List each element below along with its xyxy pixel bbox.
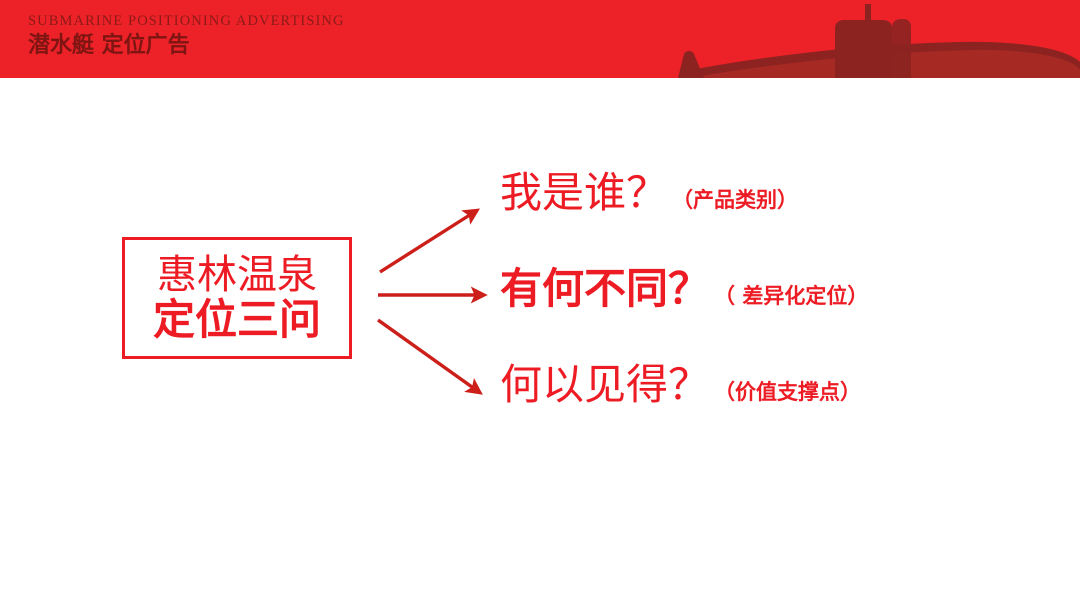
header-title-group: SUBMARINE POSITIONING ADVERTISING 潜水艇 定位… xyxy=(28,13,345,59)
question-item-3: 何以见得？ （价值支撑点） xyxy=(500,362,861,408)
slide-canvas: SUBMARINE POSITIONING ADVERTISING 潜水艇 定位… xyxy=(0,0,1080,608)
question-item-1: 我是谁？ （产品类别） xyxy=(500,170,798,216)
question-2-main: 有何不同？ xyxy=(500,266,710,312)
arrow-down-right xyxy=(378,320,479,392)
header-english-title: SUBMARINE POSITIONING ADVERTISING xyxy=(28,13,345,30)
label-box-line-2: 定位三问 xyxy=(153,298,321,342)
question-1-note: （产品类别） xyxy=(672,184,798,214)
question-3-main: 何以见得？ xyxy=(500,362,710,408)
submarine-icon xyxy=(660,0,1080,78)
header-chinese-title: 潜水艇 定位广告 xyxy=(28,33,345,58)
arrow-up-right xyxy=(380,211,476,272)
question-item-2: 有何不同？ （ 差异化定位） xyxy=(500,266,868,312)
question-2-note: （ 差异化定位） xyxy=(714,280,868,310)
positioning-label-box: 惠林温泉 定位三问 xyxy=(122,237,352,359)
question-3-note: （价值支撑点） xyxy=(714,376,861,406)
question-1-main: 我是谁？ xyxy=(500,170,668,216)
header-band: SUBMARINE POSITIONING ADVERTISING 潜水艇 定位… xyxy=(0,0,1080,78)
label-box-line-1: 惠林温泉 xyxy=(157,254,317,296)
